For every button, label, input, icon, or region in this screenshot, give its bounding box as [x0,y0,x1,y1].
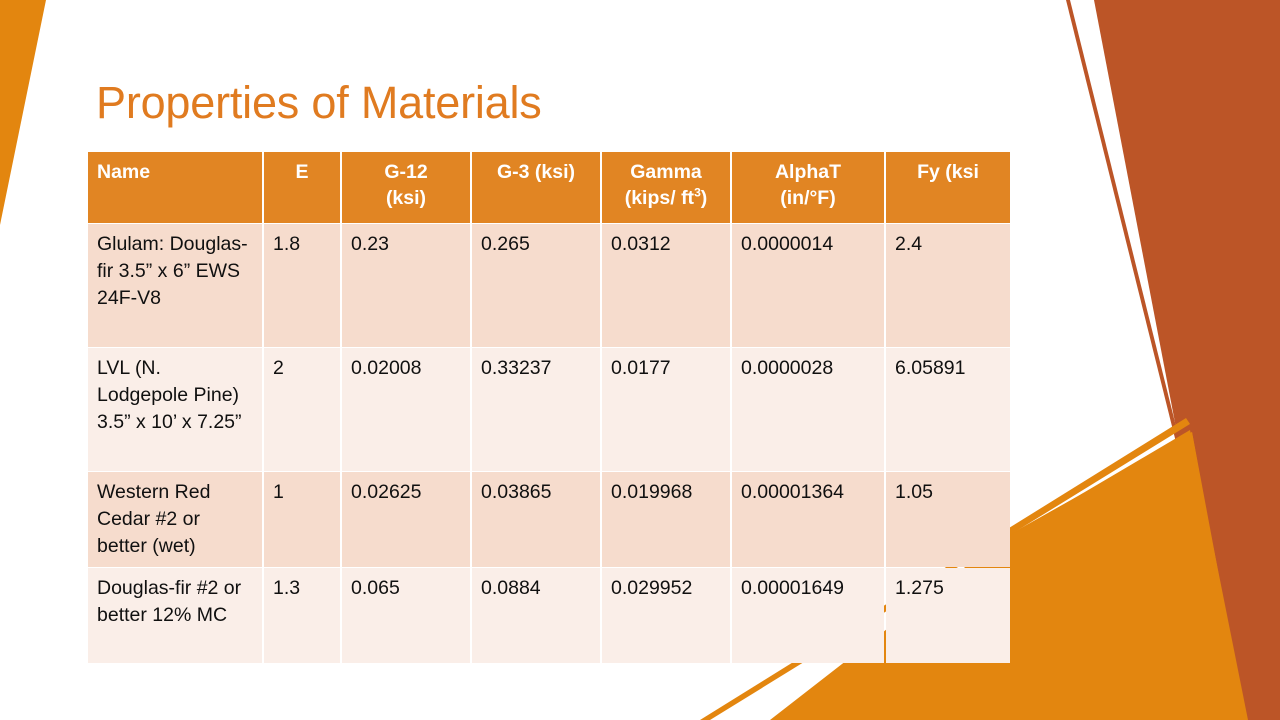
table-row: Glulam: Douglas-fir 3.5” x 6” EWS 24F-V8… [88,224,1010,347]
cell-fy: 6.05891 [886,348,1010,471]
cell-e: 2 [264,348,340,471]
cell-g12: 0.02008 [342,348,470,471]
cell-e: 1.3 [264,568,340,663]
cell-g12: 0.23 [342,224,470,347]
cell-alphat: 0.00001364 [732,472,884,567]
cell-g3: 0.0884 [472,568,600,663]
cell-e: 1.8 [264,224,340,347]
table-header-row: Name E G-12 (ksi) G-3 (ksi) Gamma (kips/ [88,152,1010,223]
superscript-three: 3 [694,186,701,200]
column-header-name: Name [88,152,262,223]
column-header-g12: G-12 (ksi) [342,152,470,223]
cell-g12: 0.02625 [342,472,470,567]
table-header: Name E G-12 (ksi) G-3 (ksi) Gamma (kips/ [88,152,1010,223]
column-header-g3: G-3 (ksi) [472,152,600,223]
column-header-alphat-line2: (in/°F) [780,187,835,209]
column-header-gamma-line2: (kips/ ft3) [625,187,708,209]
cell-fy: 1.05 [886,472,1010,567]
column-header-name-line1: Name [97,161,150,183]
cell-g3: 0.265 [472,224,600,347]
column-header-fy-line1: Fy (ksi [917,161,979,183]
cell-name: Glulam: Douglas-fir 3.5” x 6” EWS 24F-V8 [88,224,262,347]
column-header-gamma-line1: Gamma [630,161,702,183]
table-row: LVL (N. Lodgepole Pine) 3.5” x 10’ x 7.2… [88,348,1010,471]
column-header-fy: Fy (ksi [886,152,1010,223]
cell-name: LVL (N. Lodgepole Pine) 3.5” x 10’ x 7.2… [88,348,262,471]
column-header-alphat-line1: AlphaT [775,161,841,183]
cell-fy: 1.275 [886,568,1010,663]
decoration-left-wedge [0,0,46,225]
column-header-alphat: AlphaT (in/°F) [732,152,884,223]
column-header-e-line1: E [295,161,308,183]
cell-name: Douglas-fir #2 or better 12% MC [88,568,262,663]
column-header-g3-line1: G-3 (ksi) [497,161,575,183]
column-header-g12-line1: G-12 [384,161,427,183]
cell-e: 1 [264,472,340,567]
column-header-gamma: Gamma (kips/ ft3) [602,152,730,223]
decoration-thin-rust-line [1066,0,1249,720]
cell-fy: 2.4 [886,224,1010,347]
cell-g3: 0.03865 [472,472,600,567]
page-title: Properties of Materials [96,75,542,131]
cell-gamma: 0.0312 [602,224,730,347]
decoration-right-rust-band [1094,0,1280,720]
table-row: Western Red Cedar #2 or better (wet) 1 0… [88,472,1010,567]
cell-gamma: 0.0177 [602,348,730,471]
cell-g12: 0.065 [342,568,470,663]
column-header-e: E [264,152,340,223]
cell-alphat: 0.00001649 [732,568,884,663]
cell-alphat: 0.0000028 [732,348,884,471]
table-row: Douglas-fir #2 or better 12% MC 1.3 0.06… [88,568,1010,663]
table-body: Glulam: Douglas-fir 3.5” x 6” EWS 24F-V8… [88,224,1010,663]
properties-table: Name E G-12 (ksi) G-3 (ksi) Gamma (kips/ [86,151,1012,664]
column-header-g12-line2: (ksi) [386,187,426,209]
cell-g3: 0.33237 [472,348,600,471]
cell-gamma: 0.029952 [602,568,730,663]
cell-name: Western Red Cedar #2 or better (wet) [88,472,262,567]
properties-table-container: Name E G-12 (ksi) G-3 (ksi) Gamma (kips/ [88,152,998,663]
cell-gamma: 0.019968 [602,472,730,567]
cell-alphat: 0.0000014 [732,224,884,347]
slide-canvas: Properties of Materials Name E G-12 ( [0,0,1280,720]
